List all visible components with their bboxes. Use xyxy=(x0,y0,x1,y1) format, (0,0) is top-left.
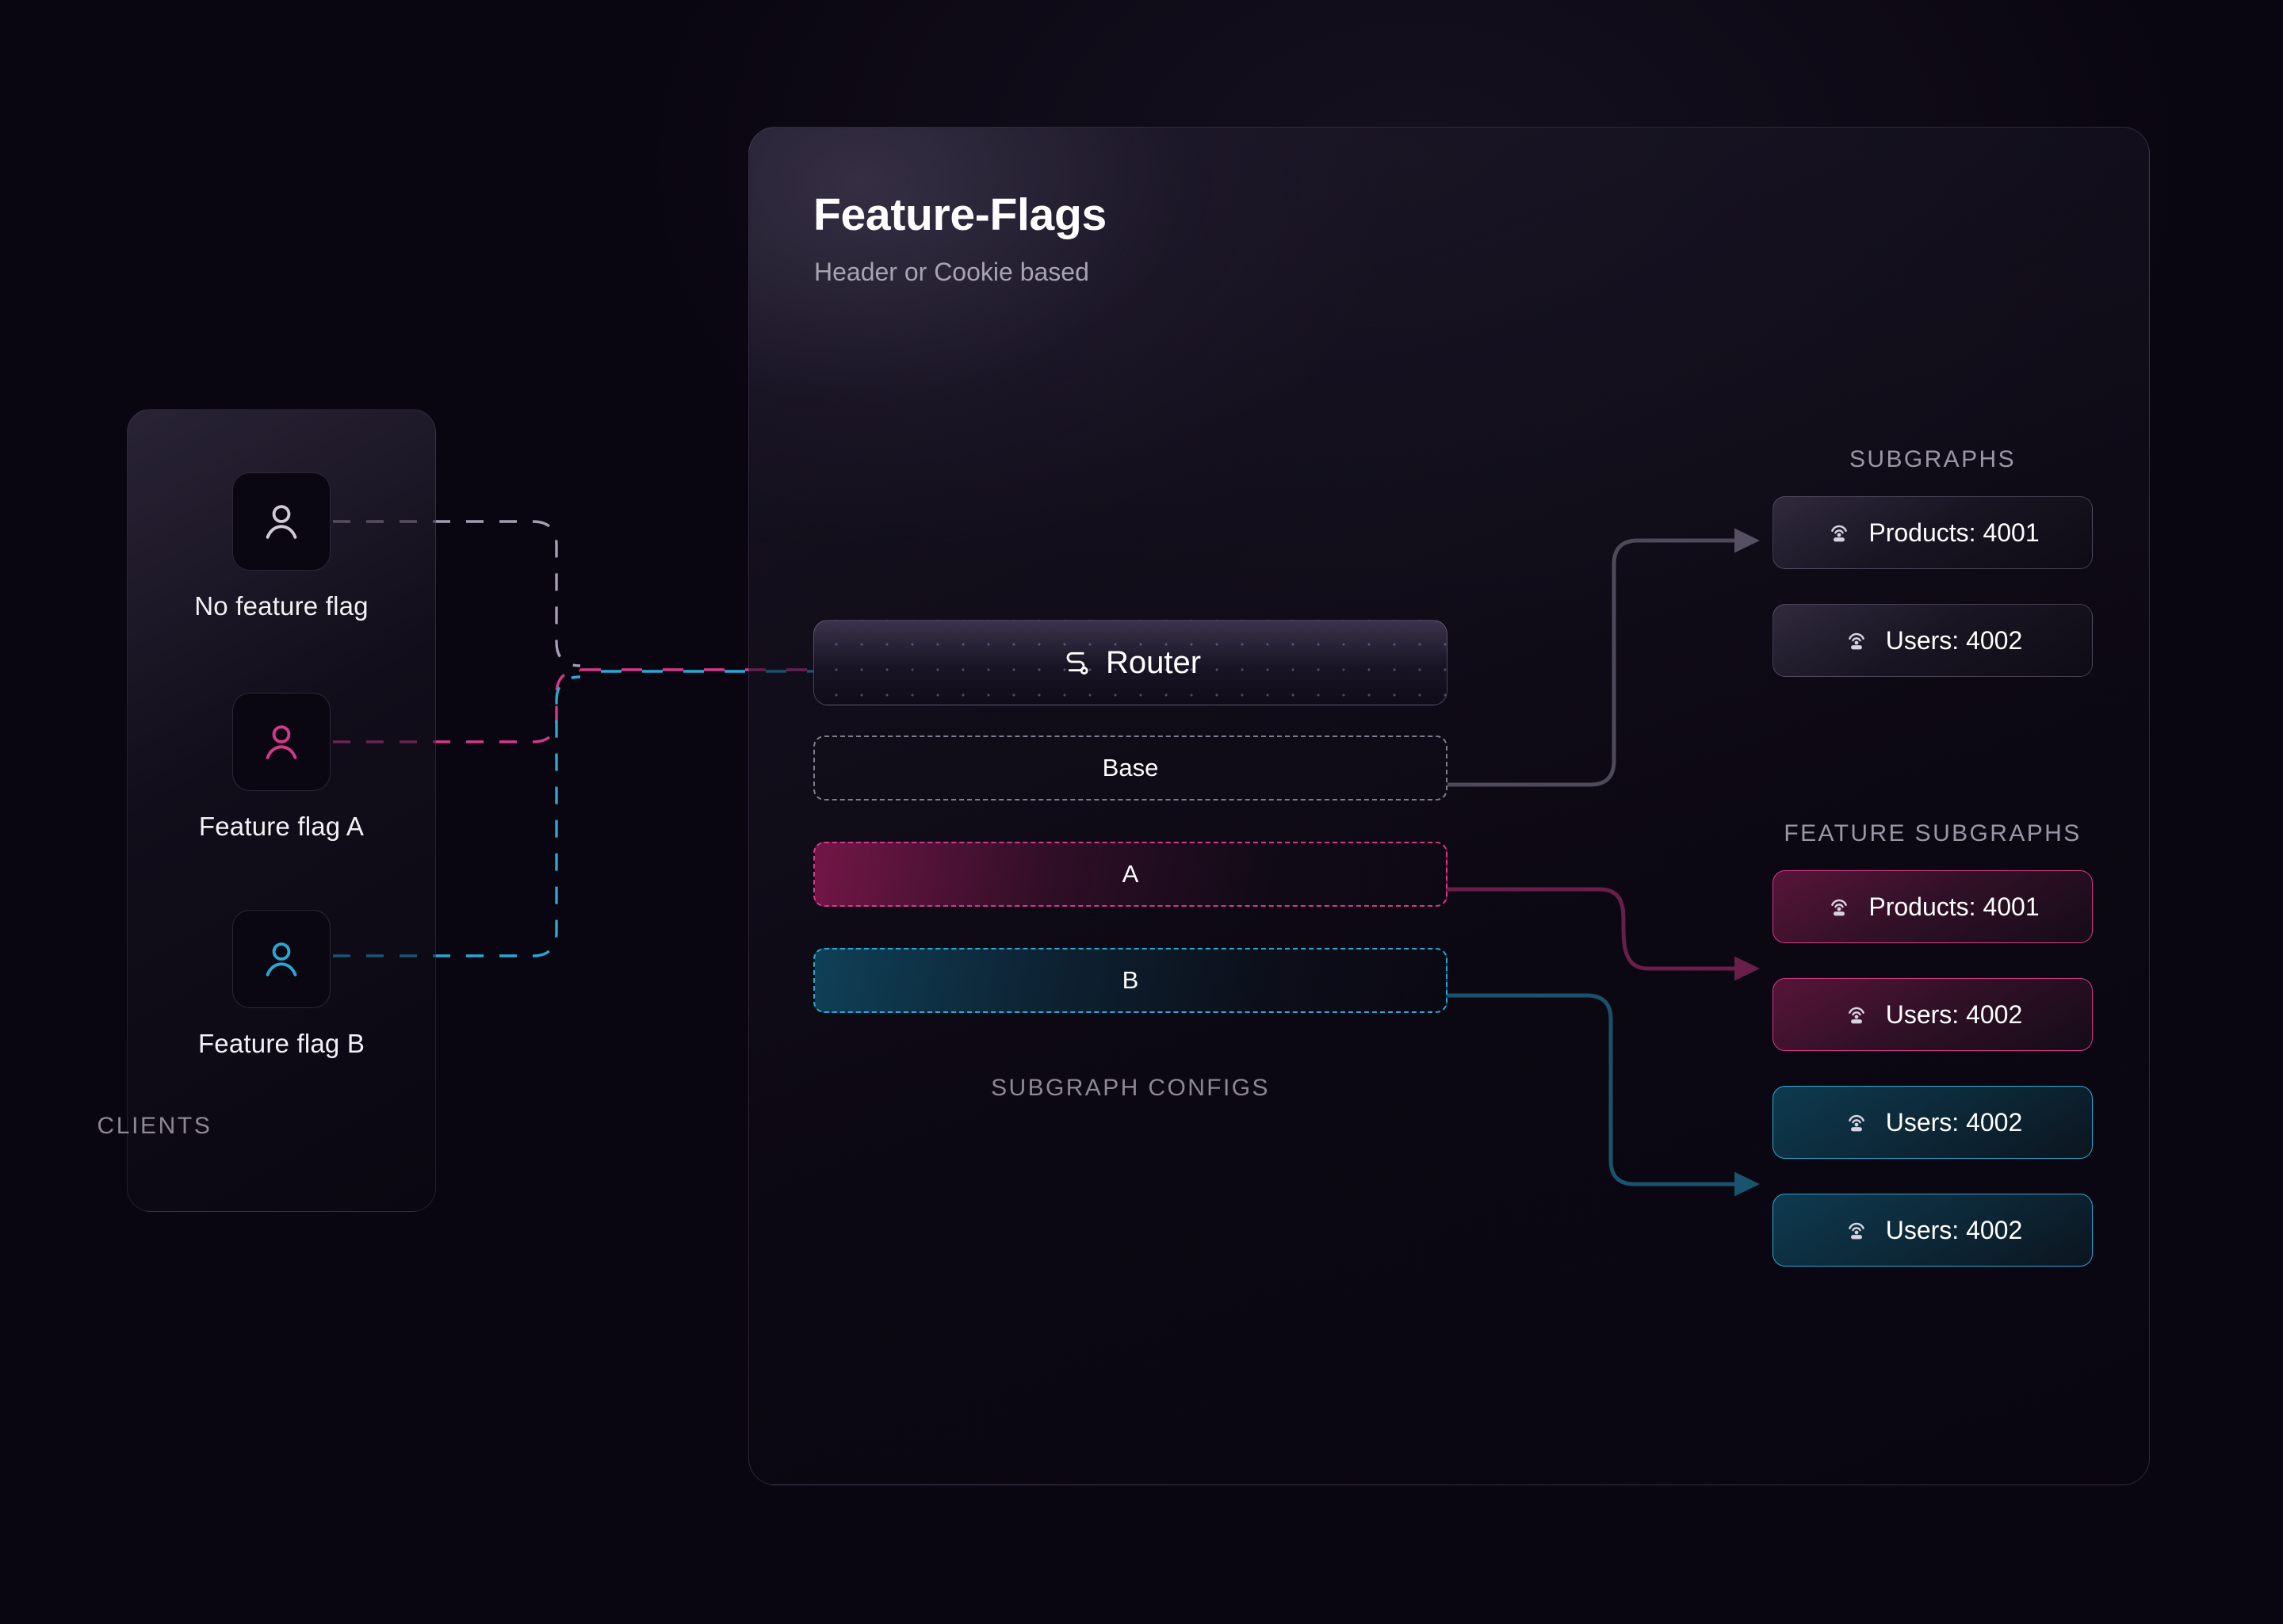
feature-subgraphs-section-caption: FEATURE SUBGRAPHS xyxy=(1772,820,2093,847)
feature-subgraph-users-4002-a[interactable]: Users: 4002 xyxy=(1772,978,2093,1051)
feature-flags-panel xyxy=(748,127,2150,1485)
broadcast-icon xyxy=(1843,1217,1870,1244)
client-node-feature-flag-a[interactable]: Feature flag A xyxy=(127,693,436,842)
subgraph-configs-caption: SUBGRAPH CONFIGS xyxy=(813,1075,1447,1102)
user-icon xyxy=(258,499,304,545)
subgraph-label: Products: 4001 xyxy=(1868,518,2039,548)
subgraph-label: Users: 4002 xyxy=(1886,626,2023,655)
feature-subgraph-label: Users: 4002 xyxy=(1886,1000,2023,1030)
feature-subgraph-label: Users: 4002 xyxy=(1886,1216,2023,1245)
config-label: B xyxy=(1122,966,1139,995)
user-icon xyxy=(258,936,304,982)
subgraphs-section-caption: SUBGRAPHS xyxy=(1772,446,2093,473)
subgraph-config-base[interactable]: Base xyxy=(813,736,1447,801)
broadcast-icon xyxy=(1843,1001,1870,1028)
client-label: Feature flag A xyxy=(127,812,436,842)
user-icon xyxy=(258,719,304,765)
feature-subgraph-products-4001[interactable]: Products: 4001 xyxy=(1772,870,2093,943)
feature-subgraph-users-4002-b1[interactable]: Users: 4002 xyxy=(1772,1086,2093,1159)
page-subtitle: Header or Cookie based xyxy=(814,258,1089,287)
feature-subgraph-label: Users: 4002 xyxy=(1886,1108,2023,1137)
route-icon xyxy=(1060,647,1092,678)
page-title: Feature-Flags xyxy=(813,189,1107,241)
client-icon-frame xyxy=(232,693,331,791)
client-node-no-feature-flag[interactable]: No feature flag xyxy=(127,472,436,621)
broadcast-icon xyxy=(1843,1109,1870,1136)
client-label: No feature flag xyxy=(127,591,436,621)
subgraph-users-4002[interactable]: Users: 4002 xyxy=(1772,604,2093,677)
client-icon-frame xyxy=(232,472,331,571)
subgraph-config-a[interactable]: A xyxy=(813,842,1447,907)
client-node-feature-flag-b[interactable]: Feature flag B xyxy=(127,910,436,1059)
broadcast-icon xyxy=(1826,519,1853,546)
config-label: Base xyxy=(1103,754,1159,782)
router-node[interactable]: Router xyxy=(813,620,1447,705)
broadcast-icon xyxy=(1826,893,1853,920)
feature-subgraph-label: Products: 4001 xyxy=(1868,892,2039,922)
diagram-canvas: No feature flag Feature flag A Feature f… xyxy=(0,0,2283,1624)
client-label: Feature flag B xyxy=(127,1029,436,1059)
feature-subgraph-users-4002-b2[interactable]: Users: 4002 xyxy=(1772,1194,2093,1267)
clients-section-caption: CLIENTS xyxy=(0,1113,309,1140)
subgraph-products-4001[interactable]: Products: 4001 xyxy=(1772,496,2093,569)
subgraph-config-b[interactable]: B xyxy=(813,948,1447,1013)
config-label: A xyxy=(1122,860,1139,888)
router-label: Router xyxy=(1106,645,1201,681)
client-icon-frame xyxy=(232,910,331,1008)
broadcast-icon xyxy=(1843,627,1870,654)
